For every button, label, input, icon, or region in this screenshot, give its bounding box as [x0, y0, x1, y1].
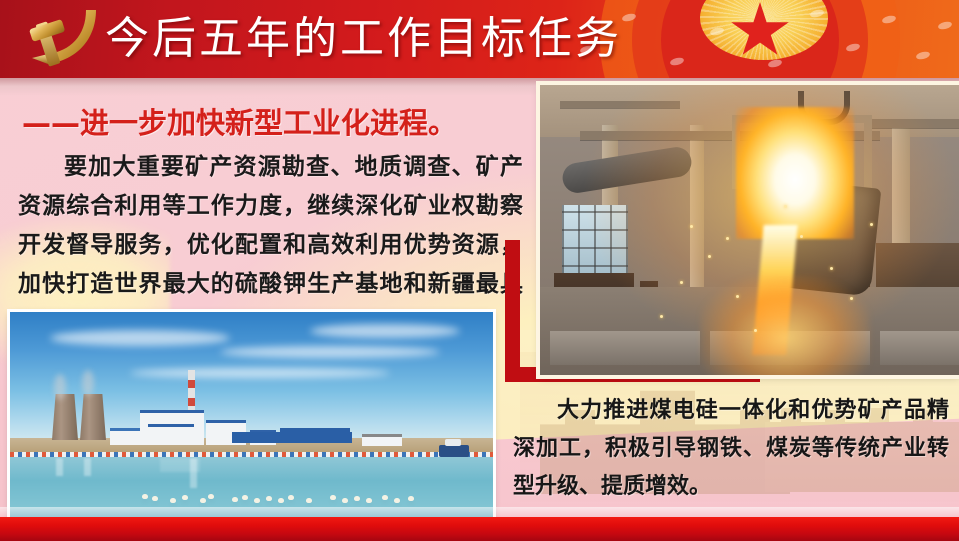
bottom-shine-decor	[0, 507, 959, 517]
slide-header-banner: 今后五年的工作目标任务	[0, 0, 959, 78]
bottom-red-bar	[0, 517, 959, 541]
presentation-slide: 今后五年的工作目标任务 ——进一步加快新型工业化进程。 要加大重要矿产资源勘查、…	[0, 0, 959, 541]
molten-metal-pouring-photo	[540, 85, 959, 375]
section-lead-heading: ——进一步加快新型工业化进程。	[22, 100, 522, 142]
salt-lake-industrial-plant-photo	[10, 312, 493, 525]
photo-caption-text: 大力推进煤电硅一体化和优势矿产品精深加工，积极引导钢铁、煤炭等传统产业转型升级、…	[513, 392, 949, 506]
page-title: 今后五年的工作目标任务	[105, 8, 622, 70]
